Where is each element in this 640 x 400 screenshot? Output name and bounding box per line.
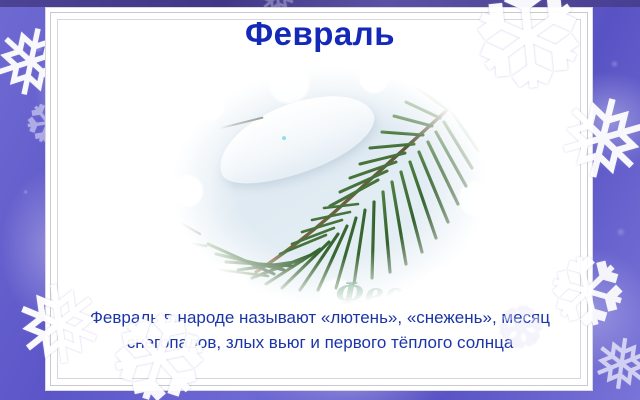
slide-canvas: ❅ ❆ ❅ Февраль [0,0,640,400]
photo-figure: Февраль [160,58,500,314]
page-title: Февраль [0,16,640,52]
snowy-fir-branch-photo: Февраль [160,58,500,314]
slide-caption: Февраль в народе называют «лютень», «сне… [70,306,570,355]
fir-needles-graphic [160,58,500,314]
top-accent-strip [0,0,640,7]
